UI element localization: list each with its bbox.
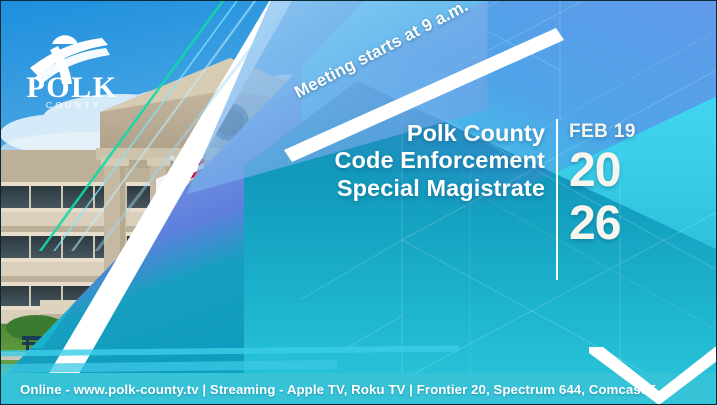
- date-divider-rule: [556, 119, 558, 280]
- event-title: Polk County Code Enforcement Special Mag…: [334, 120, 545, 202]
- event-title-line-2: Code Enforcement: [334, 147, 545, 174]
- event-date-year-bottom: 26: [569, 202, 636, 246]
- event-title-line-1: Polk County: [334, 120, 545, 147]
- broadcast-info-text: Online - www.polk-county.tv | Streaming …: [0, 382, 656, 397]
- svg-text:COUNTY: COUNTY: [46, 100, 102, 110]
- event-date: FEB 19 20 26: [569, 122, 636, 246]
- broadcast-info-banner: Online - www.polk-county.tv | Streaming …: [0, 373, 717, 405]
- event-date-month-day: FEB 19: [569, 122, 636, 141]
- meeting-announcement-graphic: POLK COUNTY Meeting starts at 9 a.m. Pol…: [0, 0, 717, 405]
- event-date-year-top: 20: [569, 149, 636, 193]
- event-title-line-3: Special Magistrate: [334, 175, 545, 202]
- polk-county-logo: POLK COUNTY: [18, 22, 126, 110]
